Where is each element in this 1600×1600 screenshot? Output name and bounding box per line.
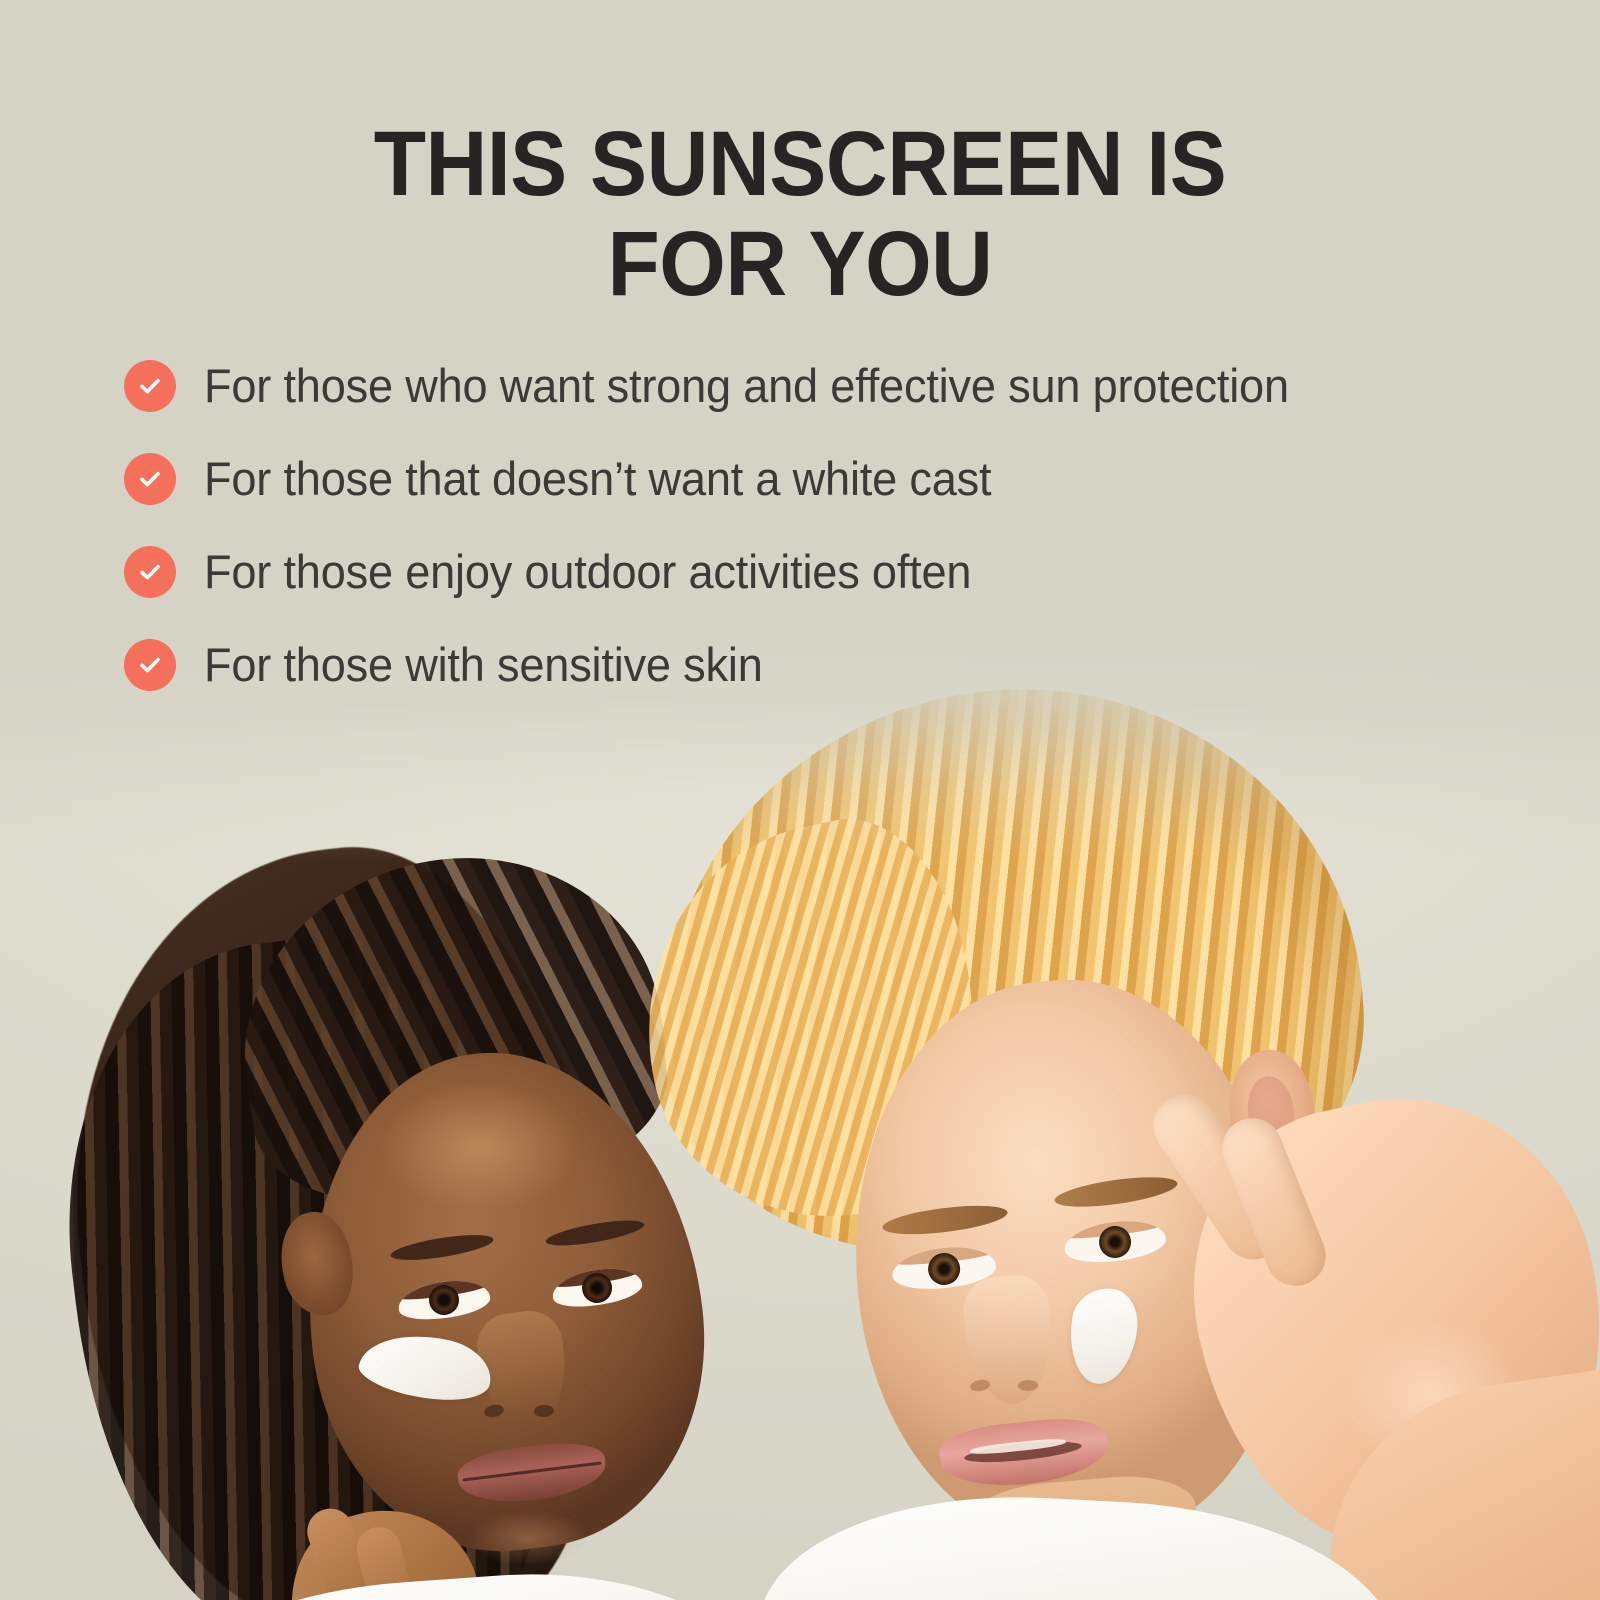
list-item: For those who want strong and effective … <box>124 358 1524 414</box>
list-item: For those enjoy outdoor activities often <box>124 544 1524 600</box>
check-circle-icon <box>124 639 176 691</box>
benefit-label: For those that doesn’t want a white cast <box>204 451 991 507</box>
headline-line-1: THIS SUNSCREEN IS <box>56 114 1544 214</box>
chin-highlight <box>468 1510 588 1566</box>
model-right-man <box>640 680 1600 1600</box>
check-circle-icon <box>124 453 176 505</box>
forehead-highlight <box>380 1082 580 1212</box>
benefit-label: For those who want strong and effective … <box>204 358 1289 414</box>
check-circle-icon <box>124 360 176 412</box>
list-item: For those with sensitive skin <box>124 637 1524 693</box>
benefit-label: For those with sensitive skin <box>204 637 763 693</box>
sunscreen-promo-poster: THIS SUNSCREEN IS FOR YOU For those who … <box>0 0 1600 1600</box>
headline-line-2: FOR YOU <box>56 214 1544 314</box>
models-photo <box>0 620 1600 1600</box>
page-title: THIS SUNSCREEN IS FOR YOU <box>56 114 1544 314</box>
check-circle-icon <box>124 546 176 598</box>
benefit-label: For those enjoy outdoor activities often <box>204 544 971 600</box>
list-item: For those that doesn’t want a white cast <box>124 451 1524 507</box>
benefits-list: For those who want strong and effective … <box>124 358 1524 730</box>
